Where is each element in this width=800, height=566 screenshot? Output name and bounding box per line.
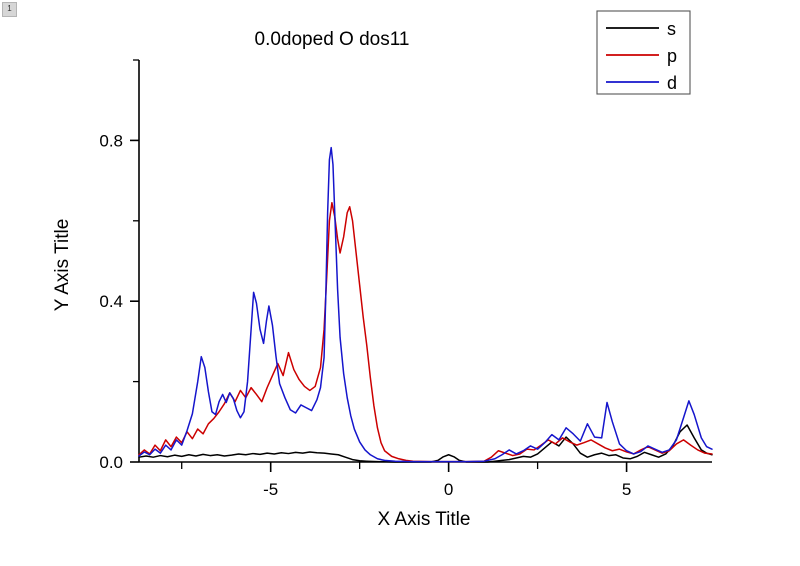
dos-chart: 0.0doped O dos11 Y Axis Title X Axis Tit… [0, 0, 800, 561]
legend-label-d: d [667, 73, 677, 93]
x-tick-label: 5 [622, 480, 631, 499]
plot-canvas: 0.0doped O dos11 Y Axis Title X Axis Tit… [0, 0, 800, 561]
y-tick-label: 0.8 [99, 131, 123, 150]
y-axis-title: Y Axis Title [52, 219, 73, 312]
series-line-p [139, 203, 712, 462]
chart-legend[interactable]: spd [597, 11, 690, 94]
y-axis-ticks: 0.00.40.8 [99, 60, 139, 472]
x-axis-title: X Axis Title [378, 509, 471, 530]
x-axis-ticks: -505 [182, 462, 632, 499]
x-tick-label: -5 [263, 480, 278, 499]
data-series-group [139, 148, 712, 462]
legend-label-s: s [667, 19, 676, 39]
series-line-s [139, 425, 712, 462]
legend-label-p: p [667, 46, 677, 66]
chart-title: 0.0doped O dos11 [255, 29, 410, 50]
y-tick-label: 0.0 [99, 453, 123, 472]
series-line-d [139, 148, 712, 462]
x-tick-label: 0 [444, 480, 453, 499]
y-tick-label: 0.4 [99, 292, 123, 311]
